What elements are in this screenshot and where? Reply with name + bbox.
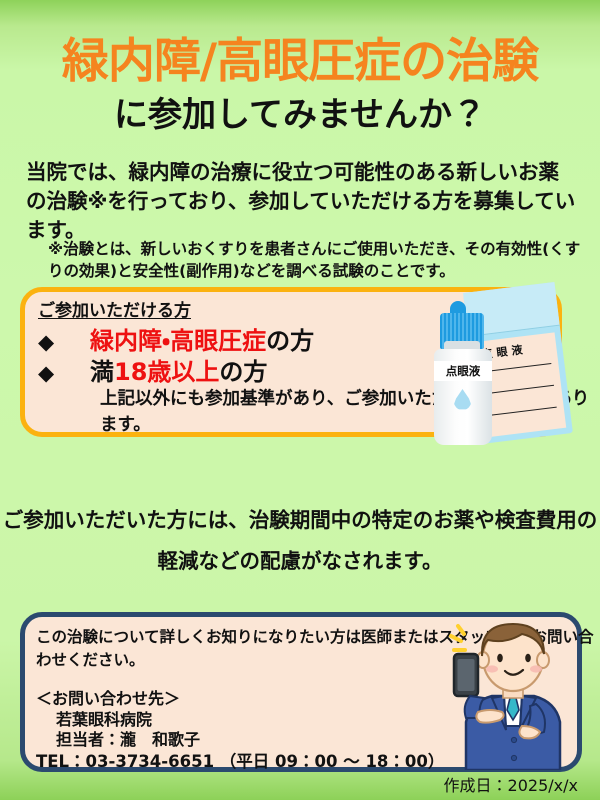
eligibility-item-1-highlight: 緑内障・高眼圧症 [90,327,266,355]
blush-left [486,665,498,672]
intro-paragraph: 当院では、緑内障の治療に役立つ可能性のある新しいお薬の治験※を行っており、参加し… [26,158,578,245]
blush-right [530,665,542,672]
creation-date: 作成日：2025/x/x [444,772,578,796]
person-svg [448,614,578,770]
package-rule-line [489,407,557,417]
eye-right [525,654,531,662]
jacket-button [511,737,516,742]
diamond-bullet-icon: ◆ [38,361,90,385]
pointing-hand [476,710,503,723]
jacket-button [511,755,516,760]
package-rule-line [486,385,554,395]
benefit-message: ご参加いただいた方には、治験期間中の特定のお薬や検査費用の軽減などの配慮がなされ… [0,500,600,582]
page-subtitle: に参加してみませんか？ [0,98,600,132]
contact-telephone: TEL：03-3734-6651 （平日 09：00 ～ 18：00） [36,748,444,772]
eligibility-item-2: ◆満18歳以上の方 [38,352,267,387]
eligibility-item-1: ◆緑内障・高眼圧症の方 [38,321,314,356]
contact-person: 担当者：瀧 和歌子 [56,726,200,750]
poster-canvas: 緑内障/高眼圧症の治験 に参加してみませんか？ 当院では、緑内障の治療に役立つ可… [0,0,600,800]
trial-definition-note: ※治験とは、新しいおくすりを患者さんにご使用いただき、その有効性(くすりの効果)… [48,238,584,283]
person-with-phone-illustration [448,614,578,770]
phone-screen [458,659,475,691]
eligibility-item-1-suffix: の方 [266,327,314,355]
eyedrop-bottle-icon: 点眼液 [432,313,494,445]
eligibility-item-2-suffix: の方 [219,358,267,386]
diamond-bullet-icon: ◆ [38,330,90,354]
bottle-label-text: 点眼液 [434,361,492,381]
eyedrop-illustration: 点眼液 点眼液 [432,283,582,451]
eye-left [497,654,503,662]
eligibility-heading: ご参加いただける方 [38,296,191,321]
page-title: 緑内障/高眼圧症の治験 [0,38,600,85]
sparkle-icon [451,626,465,650]
eligibility-item-2-highlight: 18歳以上 [114,358,219,386]
ear-right [537,652,549,668]
eligibility-item-2-prefix: 満 [90,358,114,386]
